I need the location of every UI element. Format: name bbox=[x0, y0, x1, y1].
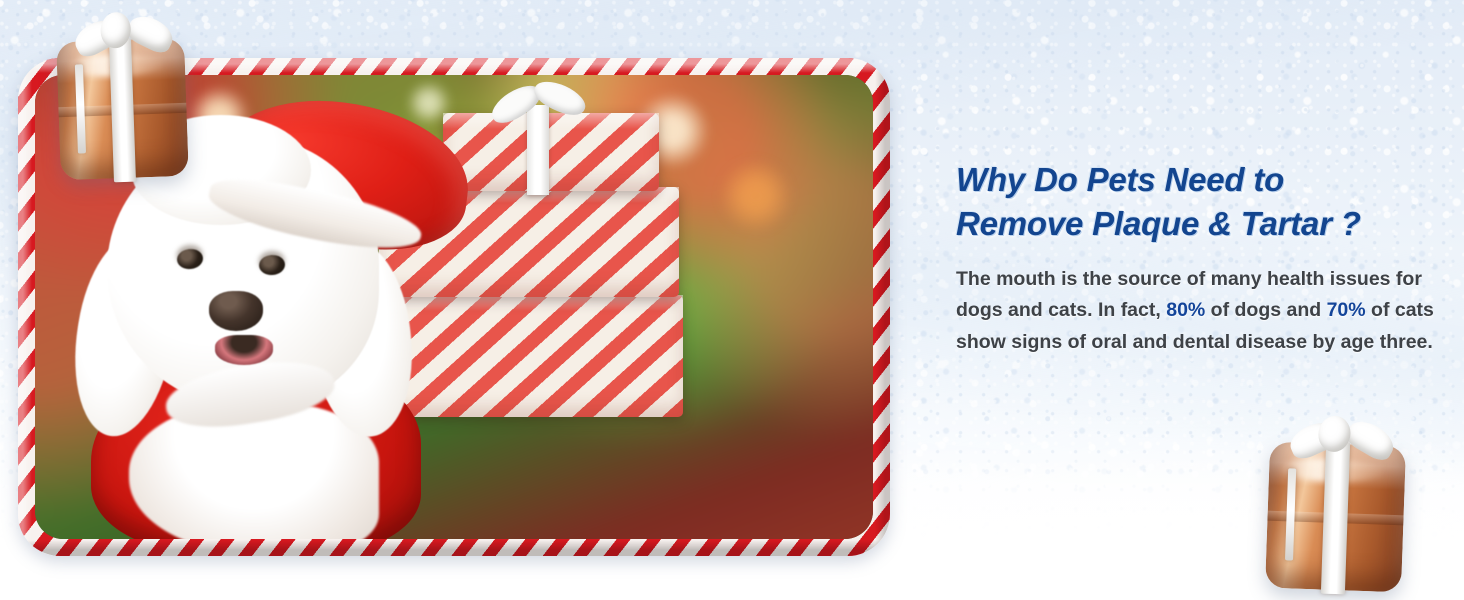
dog-nose bbox=[209, 291, 263, 331]
promo-banner: Why Do Pets Need to Remove Plaque & Tart… bbox=[0, 0, 1464, 600]
headline-line-1: Why Do Pets Need to bbox=[956, 158, 1438, 202]
dog-suit-fur-trim bbox=[129, 403, 379, 539]
page-title: Why Do Pets Need to Remove Plaque & Tart… bbox=[956, 158, 1438, 246]
body-copy: The mouth is the source of many health i… bbox=[956, 264, 1438, 359]
stat-cats: 70% bbox=[1327, 299, 1366, 321]
bow-loop-right bbox=[530, 75, 590, 121]
text-column: Why Do Pets Need to Remove Plaque & Tart… bbox=[956, 158, 1438, 358]
gift-bow-icon bbox=[1289, 414, 1397, 464]
body-part-2: of dogs and bbox=[1205, 299, 1326, 321]
white-ribbon-bow-icon bbox=[493, 79, 589, 121]
stat-dogs: 80% bbox=[1166, 299, 1205, 321]
bow-loop-right bbox=[124, 11, 178, 57]
striped-gift-box-top bbox=[443, 113, 659, 191]
copper-gift-top-left bbox=[55, 12, 189, 180]
copper-gift-bottom-right bbox=[1265, 416, 1407, 593]
bow-loop-right bbox=[1343, 415, 1400, 464]
dog-mouth bbox=[215, 335, 273, 365]
gift-bow-icon bbox=[73, 10, 174, 59]
headline-line-2: Remove Plaque & Tartar ? bbox=[956, 202, 1438, 246]
